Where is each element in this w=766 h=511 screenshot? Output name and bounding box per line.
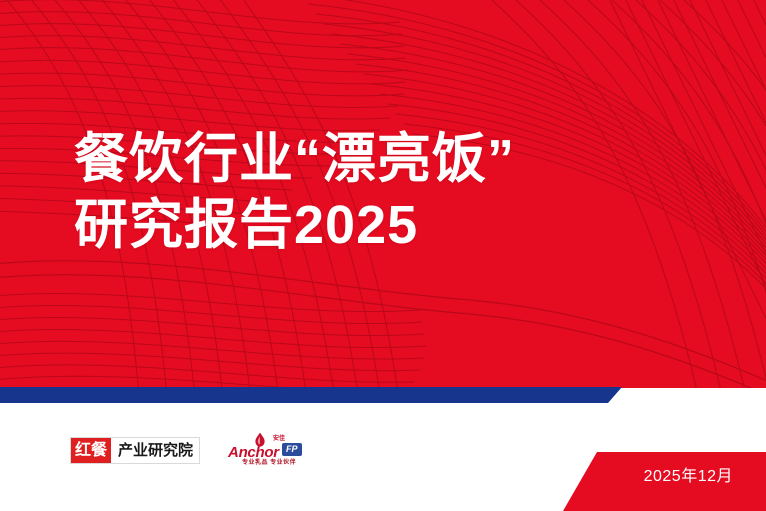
blue-accent-band	[0, 387, 766, 403]
footer-area: 2025年12月 红餐 产业研究院 Anchor 安佳 FP 专业乳品 专业伙伴	[0, 403, 766, 511]
title-line-1: 餐饮行业“漂亮饭”	[74, 126, 734, 192]
hongcan-word-text: 产业研究院	[111, 438, 199, 463]
fp-badge: FP	[282, 443, 302, 456]
cover-slide: 餐饮行业“漂亮饭” 研究报告2025 2025年12月 红餐 产业研究院	[0, 0, 766, 511]
hongcan-mark-text: 红餐	[71, 438, 111, 463]
hongcan-institute-logo[interactable]: 红餐 产业研究院	[70, 437, 200, 464]
cover-title: 餐饮行业“漂亮饭” 研究报告2025	[74, 126, 734, 258]
anchor-brand-logo[interactable]: Anchor 安佳 FP 专业乳品 专业伙伴	[226, 432, 312, 468]
anchor-chinese-name: 安佳	[273, 436, 285, 443]
anchor-tagline: 专业乳品 专业伙伴	[226, 459, 312, 467]
logo-row: 红餐 产业研究院 Anchor 安佳 FP 专业乳品 专业伙伴	[70, 432, 312, 468]
anchor-wordmark: Anchor	[228, 445, 279, 460]
publication-date: 2025年12月	[644, 467, 733, 487]
title-line-2: 研究报告2025	[74, 192, 734, 258]
